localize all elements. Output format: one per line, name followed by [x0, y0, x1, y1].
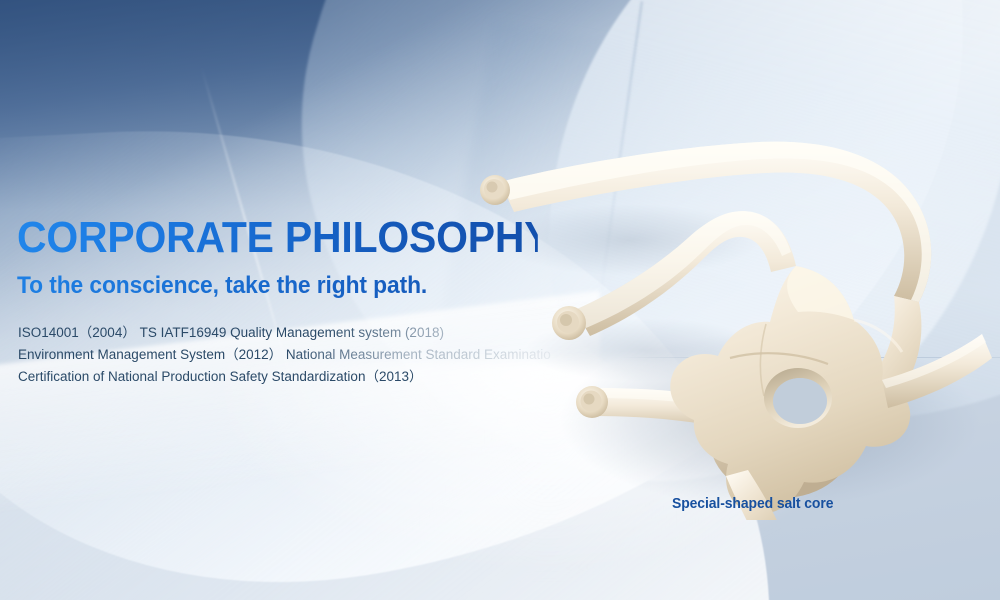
tagline: To the conscience, take the right path. [17, 272, 549, 300]
certifications-list: ISO14001（2004） TS IATF16949 Quality Mana… [18, 322, 577, 388]
corporate-philosophy-banner: CORPORATE PHILOSOPHY To the conscience, … [0, 0, 1000, 600]
banner-text-block: CORPORATE PHILOSOPHY To the conscience, … [17, 214, 577, 388]
certification-line: Environment Management System（2012） Nati… [18, 344, 577, 366]
product-caption: Special-shaped salt core [672, 495, 833, 513]
page-title: CORPORATE PHILOSOPHY [17, 214, 538, 262]
certification-line: Certification of National Production Saf… [18, 366, 577, 388]
certification-line: ISO14001（2004） TS IATF16949 Quality Mana… [18, 322, 577, 344]
